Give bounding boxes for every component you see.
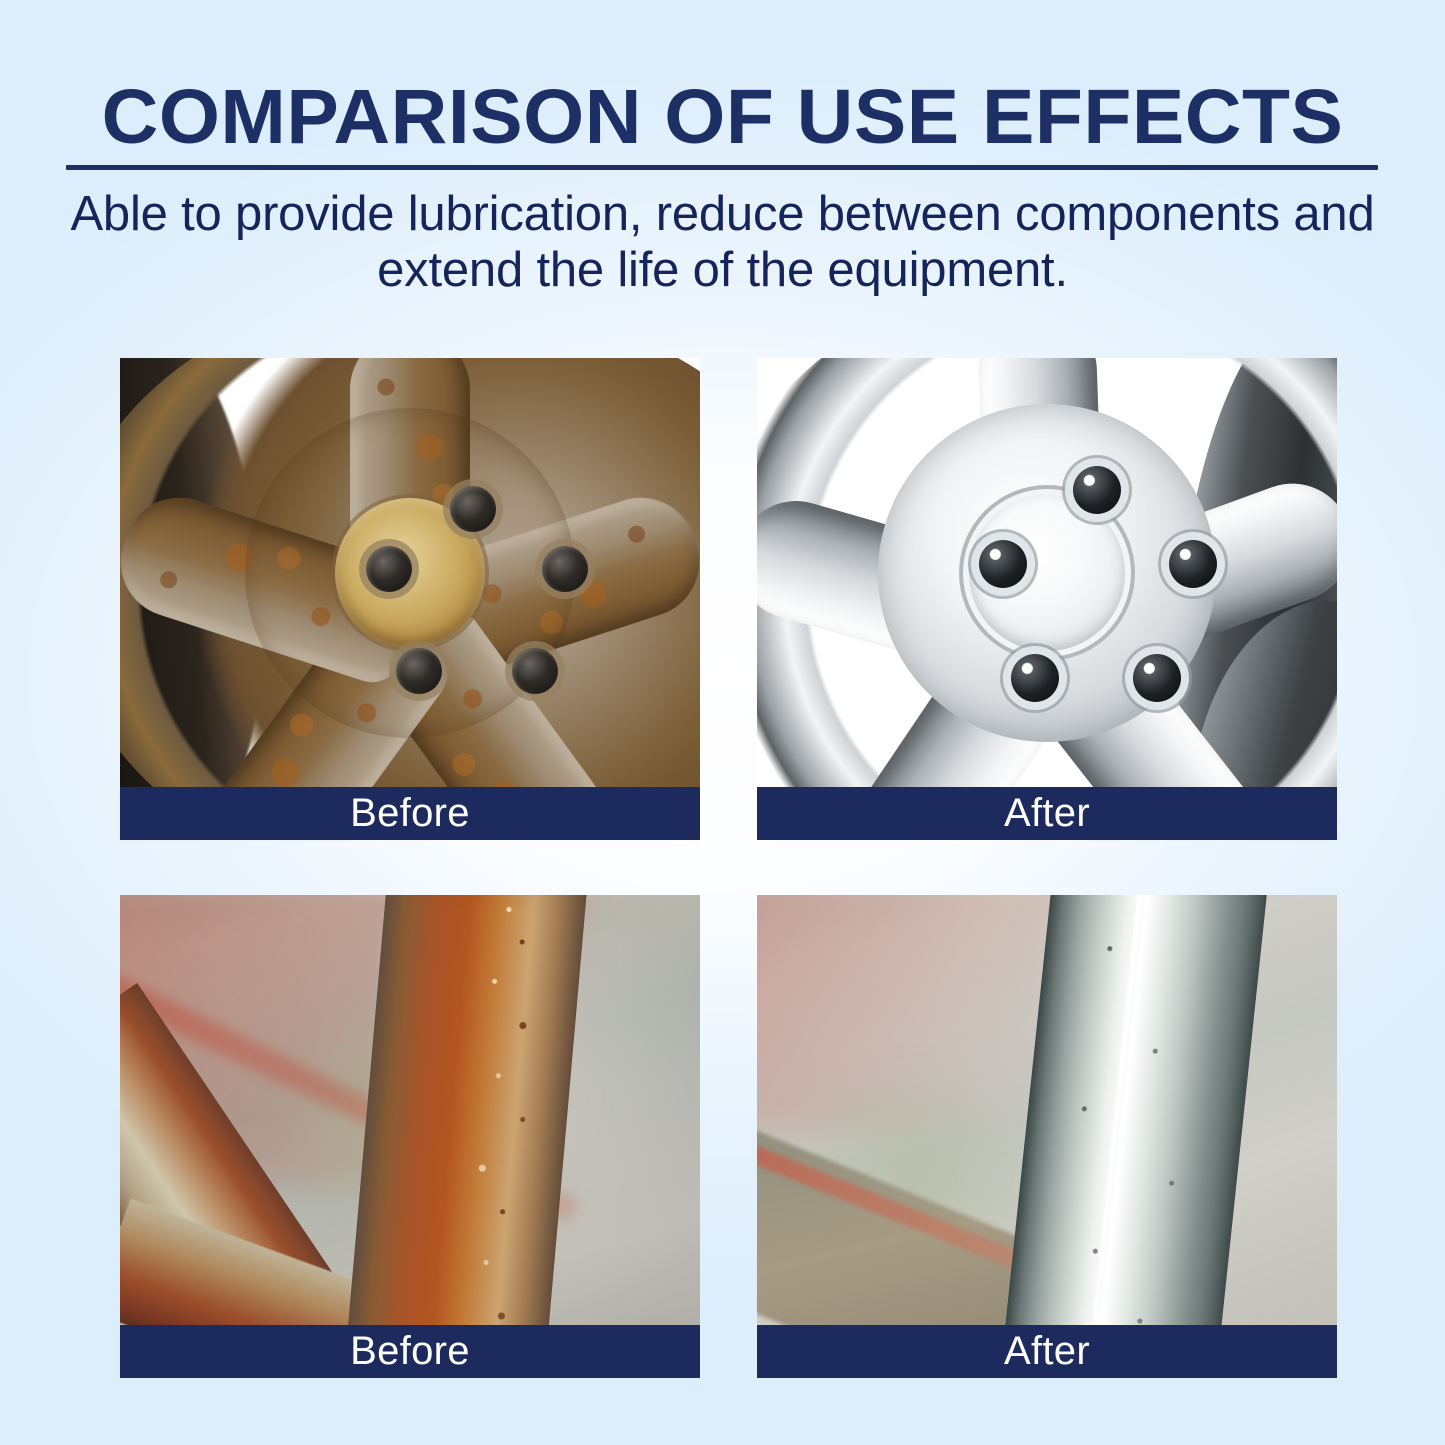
rusty-pipe-icon xyxy=(344,895,589,1325)
comparison-cell-wheel-after: After xyxy=(757,358,1337,840)
lug-nut-icon xyxy=(396,648,442,694)
lug-nut-icon xyxy=(542,546,588,592)
caption-before: Before xyxy=(120,787,700,840)
caption-after: After xyxy=(757,1325,1337,1378)
lug-nut-icon xyxy=(1011,654,1059,702)
lug-nut-icon xyxy=(512,648,558,694)
lug-nut-icon xyxy=(1133,654,1181,702)
caption-after: After xyxy=(757,787,1337,840)
lug-nut-icon xyxy=(1073,466,1121,514)
lug-nut-icon xyxy=(1169,540,1217,588)
lug-nut-icon xyxy=(366,546,412,592)
comparison-grid: Before xyxy=(0,0,1445,1445)
photo-pipe-after xyxy=(757,895,1337,1325)
comparison-cell-wheel-before: Before xyxy=(120,358,700,840)
photo-wheel-after xyxy=(757,358,1337,787)
comparison-cell-pipe-before: Before xyxy=(120,895,700,1380)
infographic-canvas: COMPARISON OF USE EFFECTS Able to provid… xyxy=(0,0,1445,1445)
caption-before: Before xyxy=(120,1325,700,1378)
rusty-wheel-illustration xyxy=(120,358,700,787)
lug-nut-icon xyxy=(450,486,496,532)
photo-pipe-before xyxy=(120,895,700,1325)
lug-nut-icon xyxy=(979,540,1027,588)
clean-wheel-illustration xyxy=(757,358,1337,787)
photo-wheel-before xyxy=(120,358,700,787)
comparison-cell-pipe-after: After xyxy=(757,895,1337,1380)
